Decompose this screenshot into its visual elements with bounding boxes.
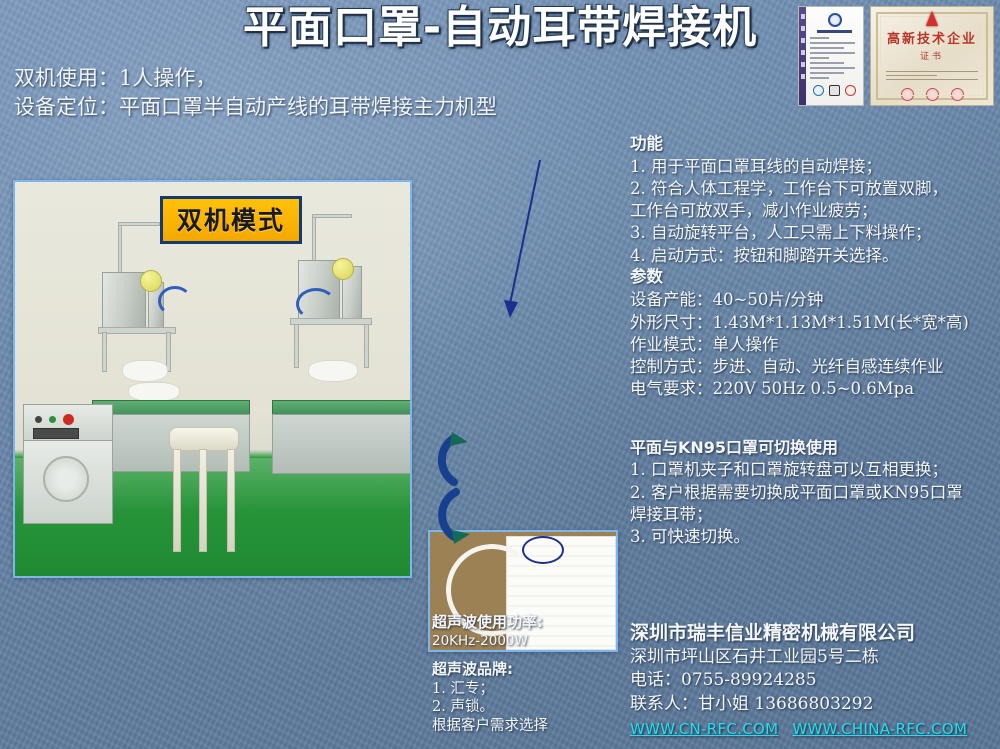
certificate-marks: [810, 85, 859, 96]
stool: [165, 427, 243, 552]
switchable-item: 2. 客户根据需要切换成平面口罩或KN95口罩: [630, 482, 998, 504]
ultrasonic-power-heading: 超声波使用功率:: [432, 613, 627, 633]
subtitle-line-1: 双机使用：1人操作，: [14, 64, 654, 93]
parameter-value: 220V 50Hz 0.5~0.6Mpa: [713, 379, 915, 398]
switchable-block: 平面与KN95口罩可切换使用 1. 口罩机夹子和口罩旋转盘可以互相更换； 2. …: [630, 437, 998, 548]
company-phone: 电话：0755-89924285: [630, 669, 998, 692]
parameter-label: 控制方式：: [630, 356, 713, 378]
dual-mode-tag: 双机模式: [160, 196, 302, 244]
switchable-item: 1. 口罩机夹子和口罩旋转盘可以互相更换；: [630, 459, 998, 481]
high-tech-certificate-image: 高新技术企业 证书: [870, 6, 994, 106]
feature-item: 2. 符合人体工程学，工作台下可放置双脚，: [630, 178, 998, 200]
parameter-value: 单人操作: [713, 335, 779, 354]
subtitle-block: 双机使用：1人操作， 设备定位：平面口罩半自动产线的耳带焊接主力机型: [14, 64, 654, 122]
ultrasonic-block: 超声波使用功率: 20KHz-2000W 超声波品牌: 1. 汇专； 2. 声锁…: [432, 613, 627, 736]
certificate-title-bar: [817, 30, 851, 33]
high-tech-certificate-subtitle: 证书: [920, 49, 944, 62]
high-tech-certificate-title: 高新技术企业: [887, 28, 977, 47]
company-name: 深圳市瑞丰信业精密机械有限公司: [630, 620, 998, 646]
highlight-circle: [522, 536, 564, 564]
flame-icon: [926, 11, 938, 26]
website-link-1[interactable]: WWW.CN-RFC.COM: [630, 720, 778, 738]
main-machine-photo: 双机模式: [13, 180, 412, 578]
switchable-item: 3. 可快速切换。: [630, 526, 998, 548]
certificates-group: 高新技术企业 证书: [798, 6, 996, 110]
ultrasonic-power-value: 20KHz-2000W: [432, 633, 627, 651]
parameter-row: 外形尺寸：1.43M*1.13M*1.51M(长*宽*高): [630, 312, 998, 334]
parameters-heading: 参数: [630, 266, 998, 288]
website-links: WWW.CN-RFC.COMWWW.CHINA-RFC.COM: [630, 718, 998, 741]
certificate-seal-icon: [828, 13, 842, 27]
certificate-stamps: [901, 88, 964, 101]
parameter-value: 1.43M*1.13M*1.51M(长*宽*高): [713, 313, 969, 332]
certificate-body: [806, 7, 863, 105]
parameter-row: 电气要求：220V 50Hz 0.5~0.6Mpa: [630, 378, 998, 400]
website-link-2[interactable]: WWW.CHINA-RFC.COM: [792, 720, 967, 738]
parameter-label: 设备产能：: [630, 289, 713, 311]
contact-person: 联系人：甘小姐 13686803292: [630, 693, 998, 716]
ultrasonic-brand-item: 2. 声锁。: [432, 698, 627, 717]
switchable-item: 焊接耳带；: [630, 504, 998, 526]
rotation-arrows-icon: [424, 420, 494, 560]
ultrasonic-brand-item: 1. 汇专；: [432, 680, 627, 699]
subtitle-line-2: 设备定位：平面口罩半自动产线的耳带焊接主力机型: [14, 93, 654, 122]
iso-certificate-image: [798, 6, 864, 106]
callout-arrow-icon: [428, 132, 628, 392]
features-heading: 功能: [630, 133, 998, 155]
feature-item: 3. 自动旋转平台，人工只需上下料操作；: [630, 222, 998, 244]
parameter-row: 控制方式：步进、自动、光纤自感连续作业: [630, 356, 998, 378]
features-block: 功能 1. 用于平面口罩耳线的自动焊接； 2. 符合人体工程学，工作台下可放置双…: [630, 133, 998, 267]
switchable-heading: 平面与KN95口罩可切换使用: [630, 437, 998, 458]
contact-block: 深圳市瑞丰信业精密机械有限公司 深圳市坪山区石井工业园5号二栋 电话：0755-…: [630, 620, 998, 741]
parameter-row: 设备产能：40~50片/分钟: [630, 289, 998, 311]
parameter-row: 作业模式：单人操作: [630, 334, 998, 356]
parameter-label: 电气要求：: [630, 378, 713, 400]
parameter-value: 40~50片/分钟: [713, 290, 824, 309]
ultrasonic-brand-heading: 超声波品牌:: [432, 660, 627, 680]
parameter-label: 作业模式：: [630, 334, 713, 356]
control-cabinet: [23, 404, 113, 524]
parameter-value: 步进、自动、光纤自感连续作业: [713, 357, 944, 376]
ultrasonic-note: 根据客户需求选择: [432, 717, 627, 736]
machine-right: [260, 214, 412, 479]
parameter-label: 外形尺寸：: [630, 312, 713, 334]
certificate-spine: [799, 7, 806, 105]
company-address: 深圳市坪山区石井工业园5号二栋: [630, 646, 998, 669]
feature-item: 4. 启动方式：按钮和脚踏开关选择。: [630, 245, 998, 267]
feature-item: 工作台可放双手，减小作业疲劳；: [630, 200, 998, 222]
poster-root: 平面口罩-自动耳带焊接机 双机使用：1人操作， 设备定位：平面口罩半自动产线的耳…: [0, 0, 1000, 749]
parameters-block: 参数 设备产能：40~50片/分钟 外形尺寸：1.43M*1.13M*1.51M…: [630, 266, 998, 401]
feature-item: 1. 用于平面口罩耳线的自动焊接；: [630, 156, 998, 178]
